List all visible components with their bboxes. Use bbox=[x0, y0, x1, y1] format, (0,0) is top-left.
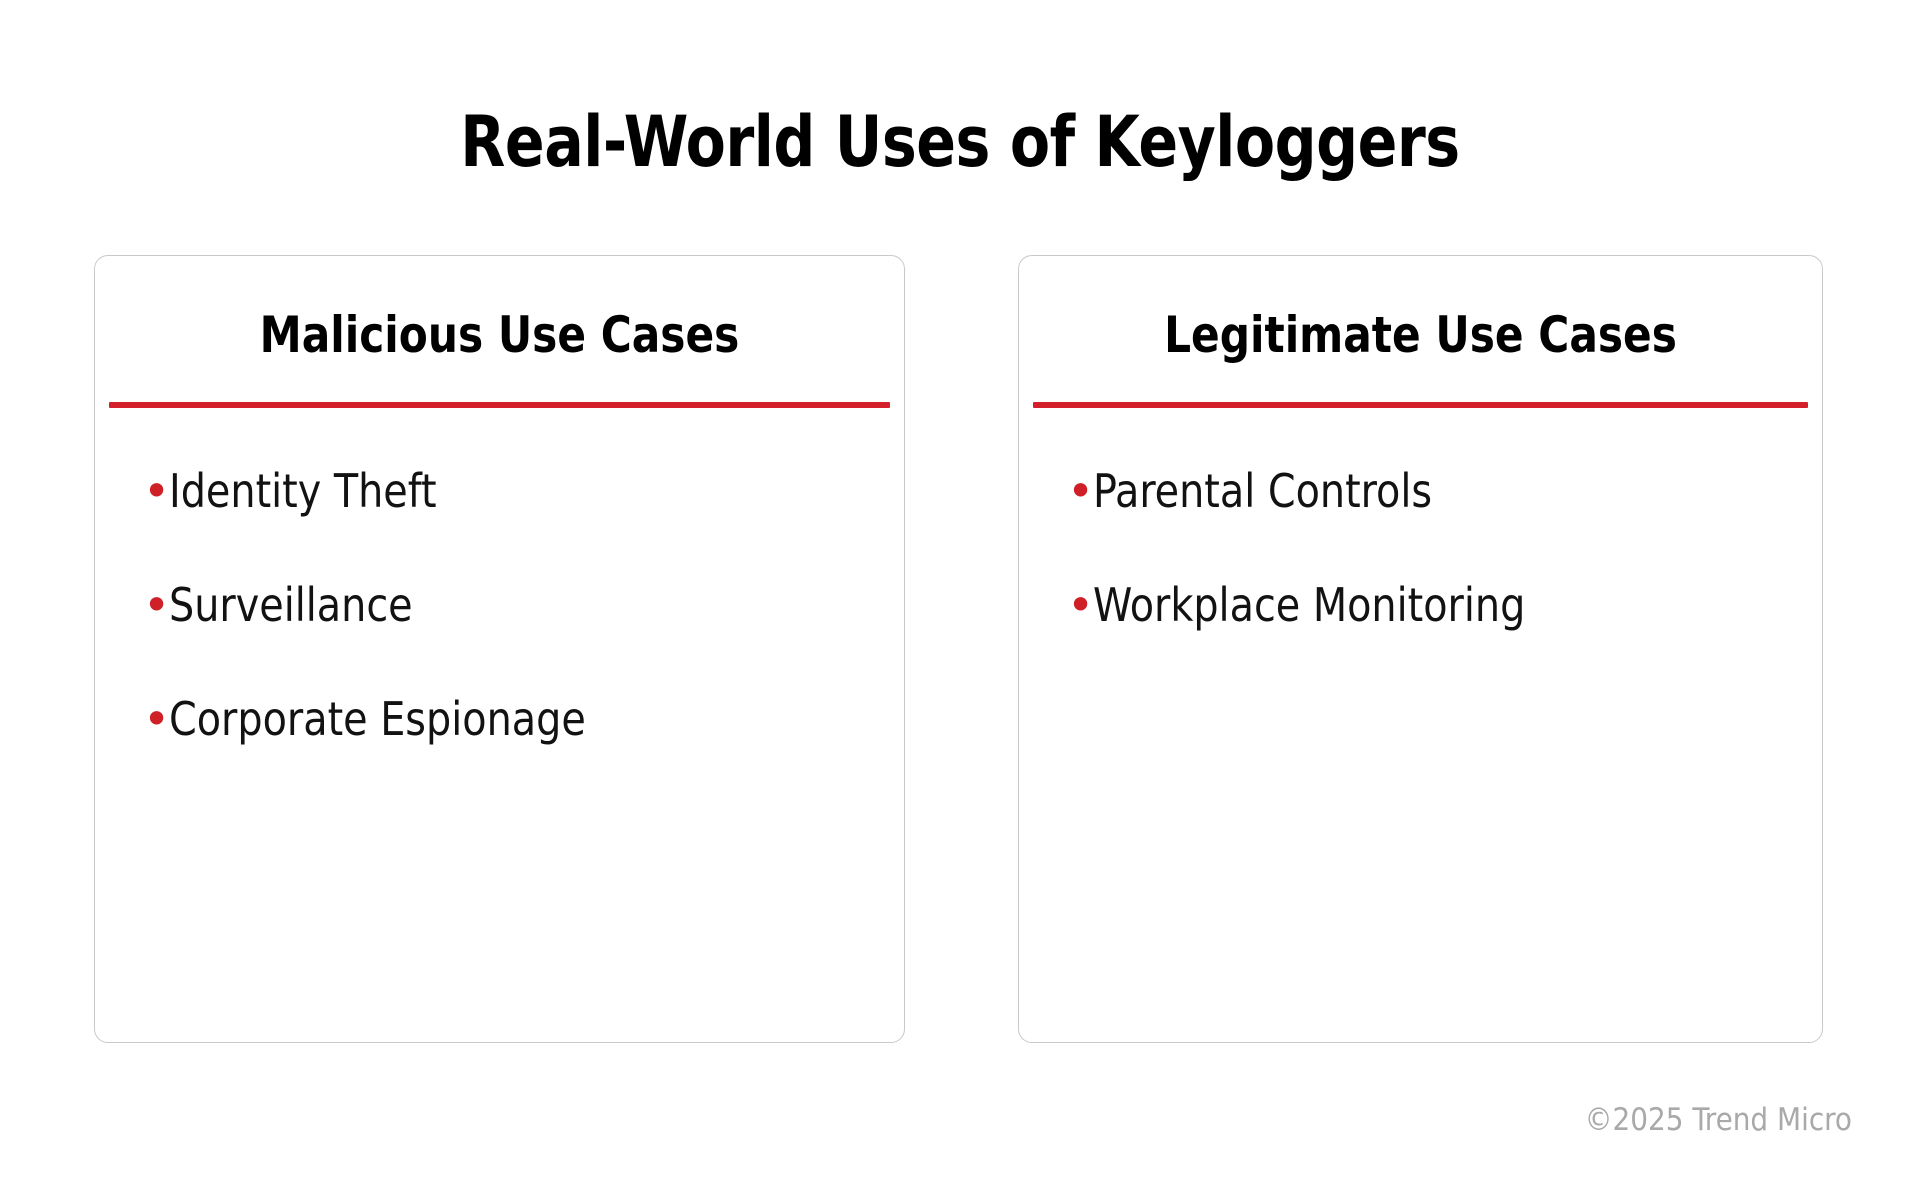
bullet-list-legitimate: • Parental Controls • Workplace Monitori… bbox=[1019, 408, 1822, 1042]
card-title-legitimate: Legitimate Use Cases bbox=[1043, 305, 1798, 365]
list-item-label: Identity Theft bbox=[169, 464, 875, 518]
list-item: • Corporate Espionage bbox=[95, 692, 904, 746]
slide-canvas: Real-World Uses of Keyloggers Malicious … bbox=[0, 0, 1920, 1181]
bullet-dot-icon: • bbox=[1067, 464, 1093, 518]
card-legitimate-use-cases: Legitimate Use Cases • Parental Controls… bbox=[1018, 255, 1823, 1043]
list-item-label: Parental Controls bbox=[1093, 464, 1793, 518]
list-item-label: Corporate Espionage bbox=[169, 692, 875, 746]
card-malicious-use-cases: Malicious Use Cases • Identity Theft • S… bbox=[94, 255, 905, 1043]
use-case-columns: Malicious Use Cases • Identity Theft • S… bbox=[94, 255, 1823, 1043]
bullet-dot-icon: • bbox=[143, 464, 169, 518]
list-item: • Identity Theft bbox=[95, 464, 904, 518]
page-title: Real-World Uses of Keyloggers bbox=[67, 99, 1853, 185]
list-item: • Workplace Monitoring bbox=[1019, 578, 1822, 632]
bullet-dot-icon: • bbox=[143, 692, 169, 746]
bullet-list-malicious: • Identity Theft • Surveillance • Corpor… bbox=[95, 408, 904, 1042]
list-item-label: Workplace Monitoring bbox=[1093, 578, 1793, 632]
list-item: • Surveillance bbox=[95, 578, 904, 632]
list-item: • Parental Controls bbox=[1019, 464, 1822, 518]
bullet-dot-icon: • bbox=[143, 578, 169, 632]
copyright-notice: ©2025 Trend Micro bbox=[1585, 1101, 1852, 1139]
bullet-dot-icon: • bbox=[1067, 578, 1093, 632]
card-title-malicious: Malicious Use Cases bbox=[119, 305, 879, 365]
list-item-label: Surveillance bbox=[169, 578, 875, 632]
